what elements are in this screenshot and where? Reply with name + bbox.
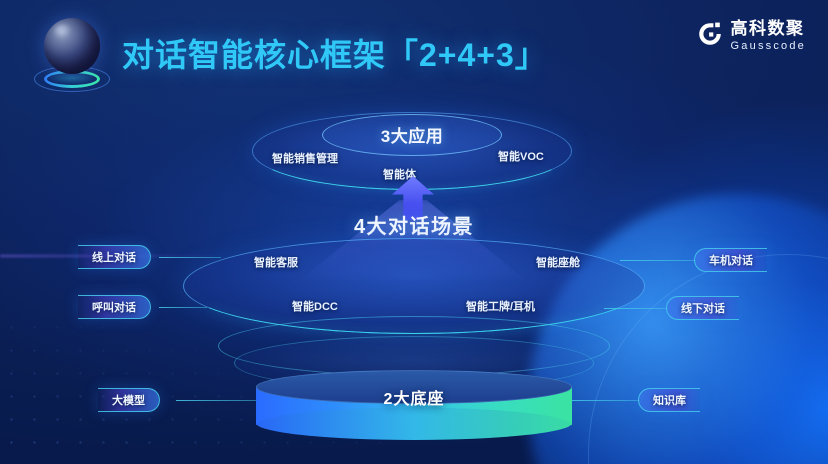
connector-line-online (159, 257, 221, 258)
connector-line-call (159, 307, 207, 308)
scenario-node-badge-headset: 智能工牌/耳机 (466, 298, 535, 314)
slide-canvas: 对话智能核心框架「2+4+3」 高科数聚 Gausscode 3大应用 智能销售… (0, 0, 828, 464)
sphere-body (44, 18, 100, 74)
application-node-sales: 智能销售管理 (272, 150, 338, 166)
page-title: 对话智能核心框架「2+4+3」 (122, 30, 548, 76)
side-label-invehicle-dialog[interactable]: 车机对话 (694, 248, 767, 272)
side-label-online-dialog[interactable]: 线上对话 (78, 245, 151, 269)
scenario-node-customer-service: 智能客服 (254, 254, 298, 270)
brand-name-cn: 高科数聚 (731, 20, 806, 37)
connector-line-model (176, 400, 262, 401)
brand-logo: 高科数聚 Gausscode (697, 20, 806, 52)
scenario-node-dcc: 智能DCC (292, 298, 338, 314)
side-label-large-model[interactable]: 大模型 (98, 388, 160, 412)
connector-line-knowledge (568, 400, 640, 401)
application-node-voc: 智能VOC (498, 148, 544, 164)
sphere-highlight (54, 24, 72, 37)
applications-title: 3大应用 (322, 122, 502, 147)
sphere-logo-icon (26, 12, 118, 104)
scenarios-title: 4大对话场景 (0, 210, 828, 239)
side-label-offline-dialog[interactable]: 线下对话 (666, 296, 739, 320)
connector-line-incar (620, 260, 696, 261)
scenario-node-cockpit: 智能座舱 (536, 254, 580, 270)
brand-logo-text: 高科数聚 Gausscode (731, 20, 806, 52)
gausscode-g-mark-icon (697, 21, 724, 48)
foundation-title: 2大底座 (256, 385, 572, 409)
brand-name-en: Gausscode (731, 41, 806, 52)
connector-line-offline (604, 308, 668, 309)
side-label-knowledge-base[interactable]: 知识库 (638, 388, 700, 412)
side-label-call-dialog[interactable]: 呼叫对话 (78, 295, 151, 319)
